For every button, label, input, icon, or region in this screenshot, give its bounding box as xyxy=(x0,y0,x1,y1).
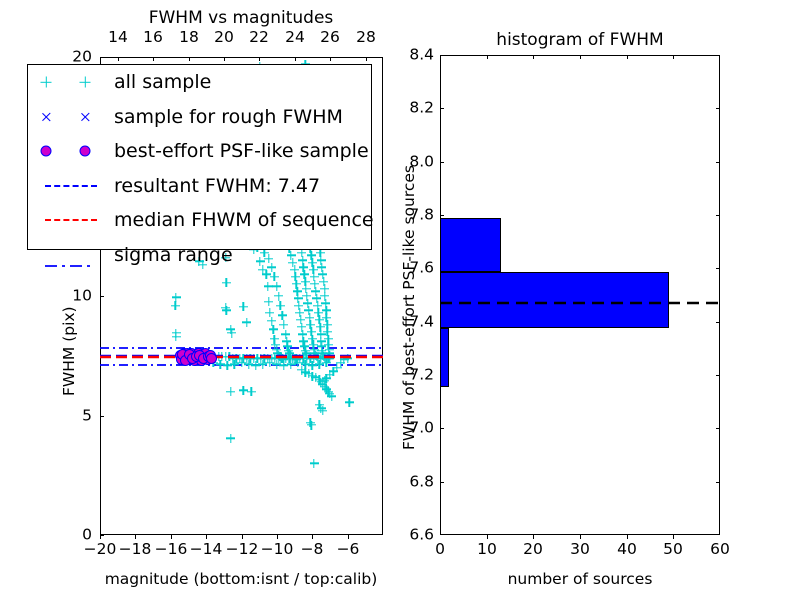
legend-label: all sample xyxy=(114,71,211,93)
legend-label: sample for rough FWHM xyxy=(114,106,343,128)
legend-key-resultant-fwhm xyxy=(28,169,114,204)
legend-item[interactable]: all sample xyxy=(28,65,371,100)
legend-item[interactable]: sample for rough FWHM xyxy=(28,100,371,135)
legend-key-all-sample xyxy=(28,65,114,100)
dashed-line-icon xyxy=(45,185,97,187)
legend-label: sigma range xyxy=(114,244,233,266)
legend-key-median-fwhm xyxy=(28,203,114,238)
plus-icon xyxy=(80,77,91,88)
legend-key-psf-sample xyxy=(28,134,114,169)
legend-key-rough-sample xyxy=(28,100,114,135)
circle-marker-icon xyxy=(80,146,91,157)
legend-item[interactable]: sigma range xyxy=(28,238,371,273)
circle-marker-icon xyxy=(41,146,52,157)
dashed-line-icon xyxy=(45,219,97,221)
dashdot-line-icon xyxy=(45,253,97,257)
histogram-bar xyxy=(440,328,449,387)
legend-key-sigma-range xyxy=(28,238,114,273)
legend-label: resultant FWHM: 7.47 xyxy=(114,175,320,197)
figure: FWHM vs magnitudes magnitude (bottom:isn… xyxy=(0,0,800,600)
histogram-bar xyxy=(440,218,501,273)
legend-item[interactable]: best-effort PSF-like sample xyxy=(28,134,371,169)
legend: all sample sample for rough FWHM best-ef… xyxy=(27,64,372,250)
plus-icon xyxy=(41,77,52,88)
legend-item[interactable]: resultant FWHM: 7.47 xyxy=(28,169,371,204)
cross-icon xyxy=(80,111,91,122)
legend-label: median FHWM of sequence xyxy=(114,209,374,231)
cross-icon xyxy=(41,111,52,122)
resultant-fwhm-line xyxy=(440,301,720,305)
legend-item[interactable]: median FHWM of sequence xyxy=(28,203,371,238)
legend-label: best-effort PSF-like sample xyxy=(114,140,369,162)
